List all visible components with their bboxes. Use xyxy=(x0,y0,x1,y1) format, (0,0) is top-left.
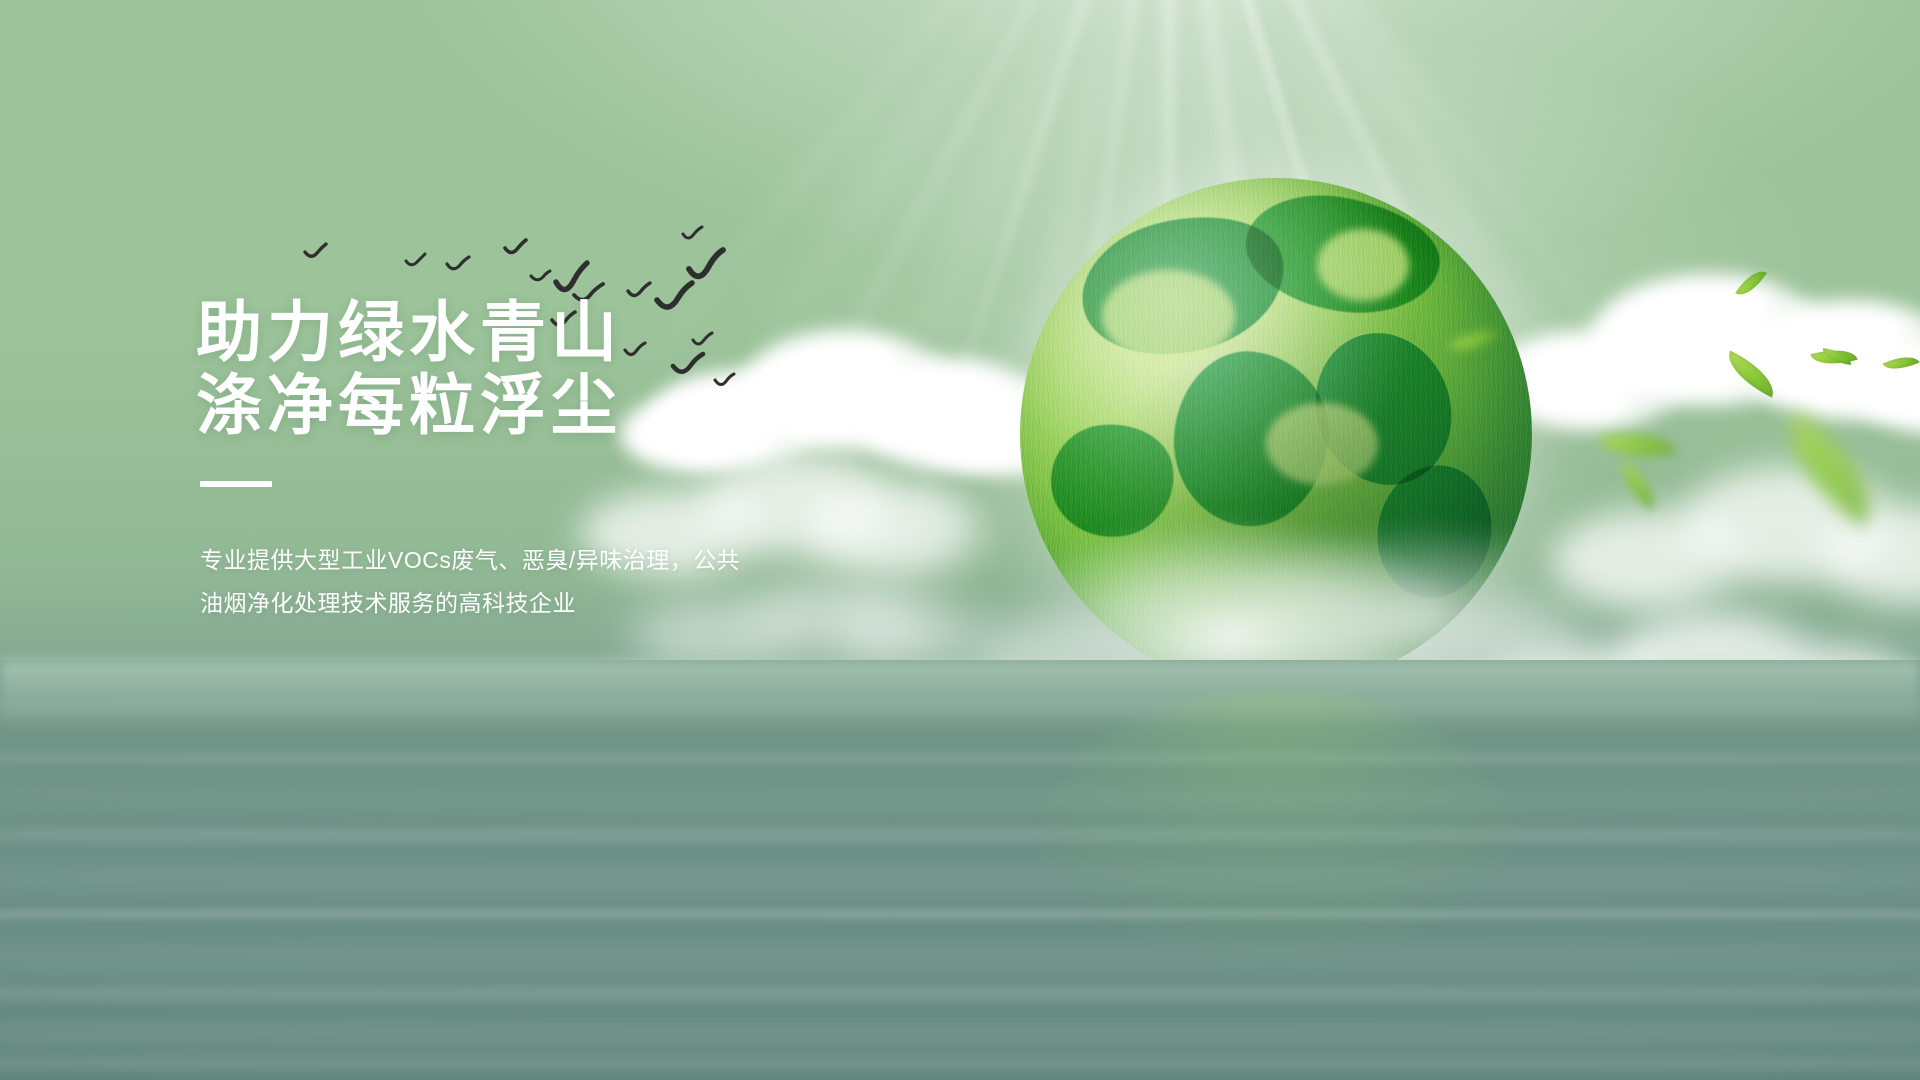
headline-line-1: 助力绿水青山 xyxy=(196,296,896,369)
green-earth-globe xyxy=(1020,178,1532,690)
banner-subtitle: 专业提供大型工业VOCs废气、恶臭/异味治理，公共油烟净化处理技术服务的高科技企… xyxy=(200,539,746,624)
headline-divider xyxy=(200,481,272,487)
hero-banner: 助力绿水青山 涤净每粒浮尘 专业提供大型工业VOCs废气、恶臭/异味治理，公共油… xyxy=(0,0,1920,1080)
headline-line-2: 涤净每粒浮尘 xyxy=(196,369,896,442)
leaf-icon xyxy=(1720,351,1783,398)
leaf-icon xyxy=(1883,350,1920,377)
leaf-icon xyxy=(1611,460,1665,510)
banner-copy: 助力绿水青山 涤净每粒浮尘 专业提供大型工业VOCs废气、恶臭/异味治理，公共油… xyxy=(196,296,896,624)
leaf-icon xyxy=(1764,411,1896,526)
water-horizon-haze xyxy=(0,660,1920,730)
cloud-right-mid xyxy=(1530,440,1920,640)
leaf-icon xyxy=(1598,424,1676,466)
globe-sphere xyxy=(1020,178,1532,690)
leaf-icon xyxy=(1735,264,1767,301)
